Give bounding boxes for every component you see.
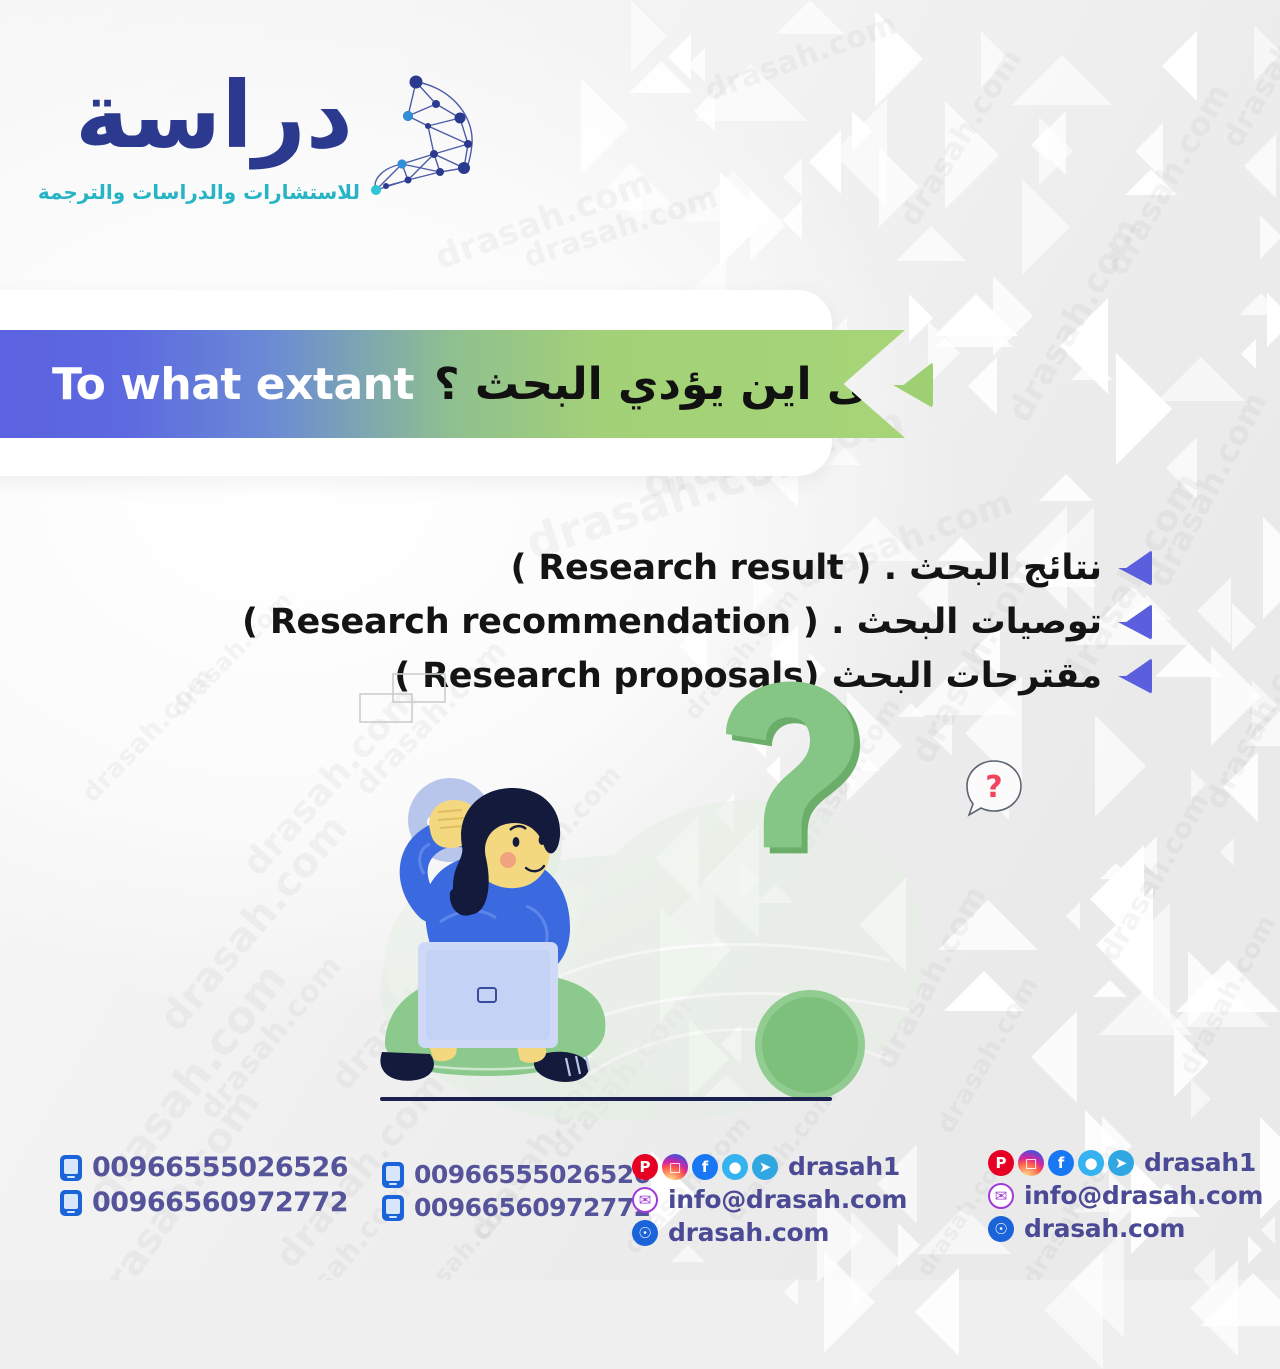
phone-number: 00966560972772	[92, 1187, 348, 1218]
twitter-icon[interactable]: ●	[722, 1154, 748, 1180]
list-item: نتائج البحث . ( Research result )	[510, 548, 1152, 588]
email-line[interactable]: ✉ info@drasah.com	[988, 1181, 1263, 1210]
globe-icon: ☉	[988, 1216, 1014, 1242]
watermark-text: drasah.com	[1271, 1091, 1280, 1258]
social-icon-row[interactable]: P ◻ f ● ➤	[988, 1150, 1134, 1176]
phone-number: 00966555026526	[92, 1152, 348, 1183]
mobile-phone-icon	[382, 1162, 404, 1188]
email-address: info@drasah.com	[668, 1185, 907, 1214]
pinterest-icon[interactable]: P	[988, 1150, 1014, 1176]
globe-icon: ☉	[632, 1220, 658, 1246]
footer-contact-middle: 00966555026526 00966560972772	[382, 1160, 651, 1226]
watermark-text: drasah.com	[1093, 786, 1216, 966]
arrow-bullet-icon	[1118, 550, 1152, 586]
mobile-phone-icon	[382, 1195, 404, 1221]
arrow-bullet-icon	[1118, 604, 1152, 640]
arrow-bullet-icon	[1118, 658, 1152, 694]
email-line[interactable]: ✉ info@drasah.com	[632, 1185, 907, 1214]
pinterest-icon[interactable]: P	[632, 1154, 658, 1180]
phone-line[interactable]: 00966560972772	[60, 1187, 348, 1218]
list-item-label: توصيات البحث . ( Research recommendation…	[242, 602, 1102, 642]
watermark-text: drasah.com	[1215, 0, 1280, 154]
twitter-icon[interactable]: ●	[1078, 1150, 1104, 1176]
decorative-triangle	[915, 1268, 959, 1356]
watermark-text: drasah.com	[1198, 620, 1280, 815]
headline-english: To what extant	[52, 359, 414, 410]
watermark-text: drasah.com	[931, 971, 1045, 1138]
list-item: توصيات البحث . ( Research recommendation…	[242, 602, 1152, 642]
research-question-illustration	[330, 660, 930, 1120]
network-brain-icon	[368, 68, 508, 208]
social-handle-line[interactable]: P ◻ f ● ➤ drasah1	[988, 1148, 1263, 1177]
logo-subtitle: للاستشارات والدراسات والترجمة	[38, 180, 360, 204]
facebook-icon[interactable]: f	[1048, 1150, 1074, 1176]
ribbon-content: To what extant إلى اين يؤدي البحث ؟	[0, 359, 905, 410]
email-icon: ✉	[988, 1183, 1014, 1209]
instagram-icon[interactable]: ◻	[662, 1154, 688, 1180]
email-icon: ✉	[632, 1187, 658, 1213]
footer-contact-left: 00966555026526 00966560972772	[60, 1152, 348, 1222]
question-speech-bubble-icon: ?	[960, 755, 1028, 823]
phone-line[interactable]: 00966560972772	[382, 1193, 651, 1222]
footer-contact-right: P ◻ f ● ➤ drasah1 ✉ info@drasah.com ☉ dr…	[988, 1148, 1263, 1247]
bubble-question-mark: ?	[985, 770, 1002, 805]
phone-line[interactable]: 00966555026526	[60, 1152, 348, 1183]
ground-line	[380, 1097, 832, 1101]
email-address: info@drasah.com	[1024, 1181, 1263, 1210]
headline-ribbon: To what extant إلى اين يؤدي البحث ؟	[0, 330, 905, 438]
social-handle: drasah1	[1144, 1148, 1256, 1177]
watermark-text: drasah.com	[893, 43, 1030, 233]
phone-line[interactable]: 00966555026526	[382, 1160, 651, 1189]
watermark-text: drasah.com	[1097, 76, 1237, 281]
list-item-label: نتائج البحث . ( Research result )	[510, 548, 1102, 588]
website-address: drasah.com	[1024, 1214, 1185, 1243]
website-line[interactable]: ☉ drasah.com	[988, 1214, 1263, 1243]
mobile-phone-icon	[60, 1155, 82, 1181]
social-handle-line[interactable]: P ◻ f ● ➤ drasah1	[632, 1152, 907, 1181]
footer-social-middle: P ◻ f ● ➤ drasah1 ✉ info@drasah.com ☉ dr…	[632, 1152, 907, 1251]
headline-arabic: إلى اين يؤدي البحث ؟	[434, 359, 903, 410]
social-handle: drasah1	[788, 1152, 900, 1181]
phone-number: 00966555026526	[414, 1160, 651, 1189]
logo-wordmark: دراسة	[75, 70, 353, 162]
website-address: drasah.com	[668, 1218, 829, 1247]
facebook-icon[interactable]: f	[692, 1154, 718, 1180]
telegram-icon[interactable]: ➤	[1108, 1150, 1134, 1176]
brand-logo[interactable]: دراسة للاستشارات والدراسات والترجمة	[148, 62, 508, 232]
website-line[interactable]: ☉ drasah.com	[632, 1218, 907, 1247]
instagram-icon[interactable]: ◻	[1018, 1150, 1044, 1176]
watermark-text: drasah.com	[1173, 910, 1280, 1079]
phone-number: 00966560972772	[414, 1193, 651, 1222]
decorative-triangle	[784, 1278, 798, 1306]
social-icon-row[interactable]: P ◻ f ● ➤	[632, 1154, 778, 1180]
watermark-text: drasah.com	[700, 7, 902, 109]
telegram-icon[interactable]: ➤	[752, 1154, 778, 1180]
mobile-phone-icon	[60, 1190, 82, 1216]
